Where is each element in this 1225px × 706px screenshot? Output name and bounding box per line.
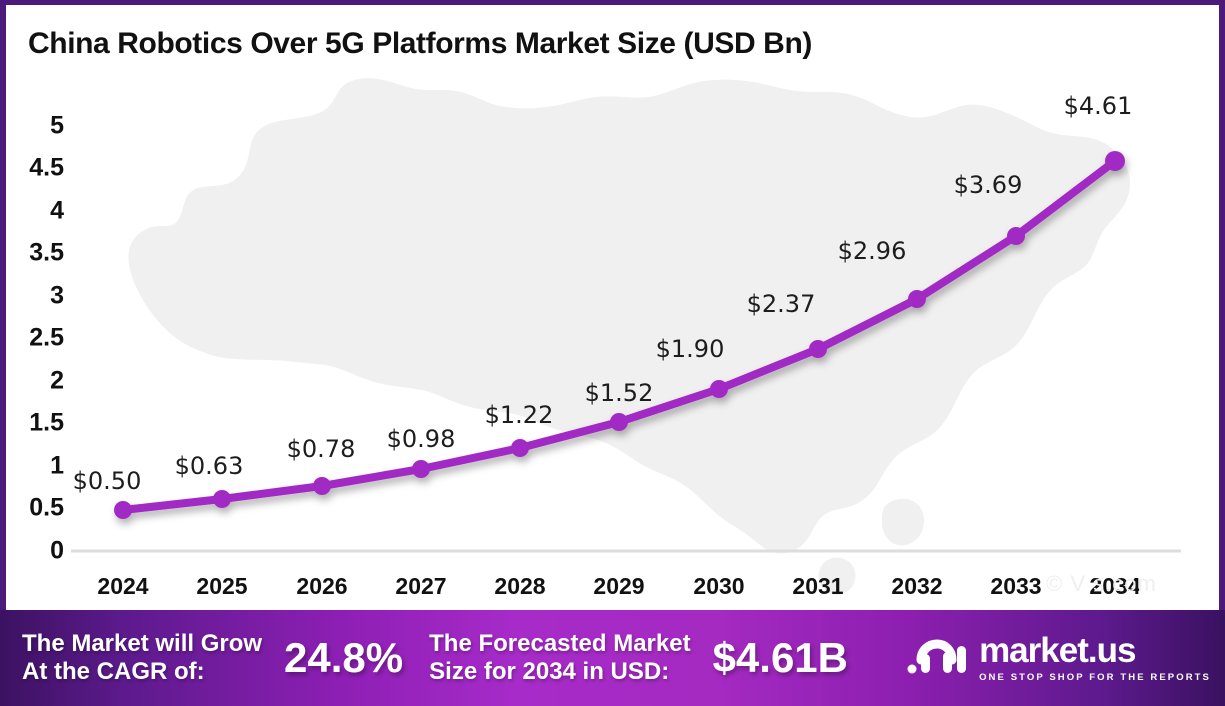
x-tick: 2031 bbox=[792, 573, 843, 600]
y-tick: 3 bbox=[12, 282, 64, 311]
x-tick: 2028 bbox=[494, 573, 545, 600]
x-tick: 2029 bbox=[593, 573, 644, 600]
data-point[interactable] bbox=[809, 340, 827, 358]
forecast-label-line1: The Forecasted Market bbox=[429, 630, 690, 658]
plot-area: 0 0.5 1 1.5 2 2.5 3 3.5 4 4.5 5 2024 202… bbox=[6, 5, 1225, 610]
chart-screenshot: China Robotics Over 5G Platforms Market … bbox=[0, 0, 1225, 706]
data-label: $3.69 bbox=[954, 171, 1023, 199]
data-label: $1.52 bbox=[585, 379, 654, 407]
cagr-label-line2: At the CAGR of: bbox=[22, 658, 262, 686]
series-line bbox=[123, 161, 1115, 510]
y-tick: 0 bbox=[12, 537, 64, 566]
data-label: $1.22 bbox=[485, 401, 554, 429]
cagr-value: 24.8% bbox=[284, 634, 403, 682]
series-line-svg bbox=[6, 5, 1225, 610]
data-label: $2.37 bbox=[747, 290, 816, 318]
data-label: $0.63 bbox=[175, 452, 244, 480]
data-label: $2.96 bbox=[838, 237, 907, 265]
market-us-logo-icon bbox=[907, 638, 969, 678]
data-point[interactable] bbox=[511, 439, 529, 457]
cagr-label-line1: The Market will Grow bbox=[22, 630, 262, 658]
forecast-label: The Forecasted Market Size for 2034 in U… bbox=[429, 630, 690, 686]
y-axis: 0 0.5 1 1.5 2 2.5 3 3.5 4 4.5 5 bbox=[6, 5, 64, 610]
data-point[interactable] bbox=[412, 460, 430, 478]
data-point[interactable] bbox=[610, 413, 628, 431]
market-us-logo-text: market.us ONE STOP SHOP FOR THE REPORTS bbox=[979, 633, 1211, 683]
summary-banner: The Market will Grow At the CAGR of: 24.… bbox=[0, 610, 1225, 706]
x-tick: 2024 bbox=[97, 573, 148, 600]
series-path-group bbox=[114, 151, 1125, 519]
y-tick: 3.5 bbox=[12, 239, 64, 268]
data-label: $0.50 bbox=[73, 467, 142, 495]
x-tick: 2025 bbox=[196, 573, 247, 600]
y-tick: 0.5 bbox=[12, 494, 64, 523]
logo-name: market.us bbox=[979, 633, 1211, 668]
data-point[interactable] bbox=[908, 290, 926, 308]
data-point[interactable] bbox=[114, 501, 132, 519]
data-label: $0.78 bbox=[287, 435, 356, 463]
y-tick: 5 bbox=[12, 112, 64, 141]
chart-panel: China Robotics Over 5G Platforms Market … bbox=[0, 0, 1225, 610]
data-point[interactable] bbox=[213, 490, 231, 508]
data-label: $1.90 bbox=[656, 335, 725, 363]
data-point[interactable] bbox=[313, 477, 331, 495]
x-tick: 2030 bbox=[693, 573, 744, 600]
data-point[interactable] bbox=[710, 380, 728, 398]
data-label: $4.61 bbox=[1064, 92, 1133, 120]
x-tick: 2027 bbox=[395, 573, 446, 600]
forecast-value: $4.61B bbox=[713, 634, 848, 682]
data-point[interactable] bbox=[1007, 227, 1025, 245]
x-tick: 2026 bbox=[296, 573, 347, 600]
y-tick: 2 bbox=[12, 367, 64, 396]
y-tick: 2.5 bbox=[12, 324, 64, 353]
data-label: $0.98 bbox=[387, 425, 456, 453]
logo-tagline: ONE STOP SHOP FOR THE REPORTS bbox=[979, 672, 1211, 683]
y-tick: 4.5 bbox=[12, 154, 64, 183]
y-tick: 1 bbox=[12, 452, 64, 481]
market-us-logo[interactable]: market.us ONE STOP SHOP FOR THE REPORTS bbox=[907, 633, 1211, 683]
y-tick: 4 bbox=[12, 197, 64, 226]
forecast-label-line2: Size for 2034 in USD: bbox=[429, 658, 690, 686]
y-tick: 1.5 bbox=[12, 409, 64, 438]
watermark: © V s.com bbox=[1046, 571, 1157, 597]
cagr-label: The Market will Grow At the CAGR of: bbox=[22, 630, 262, 686]
data-point[interactable] bbox=[1105, 151, 1125, 171]
x-tick: 2033 bbox=[990, 573, 1041, 600]
x-tick: 2032 bbox=[891, 573, 942, 600]
